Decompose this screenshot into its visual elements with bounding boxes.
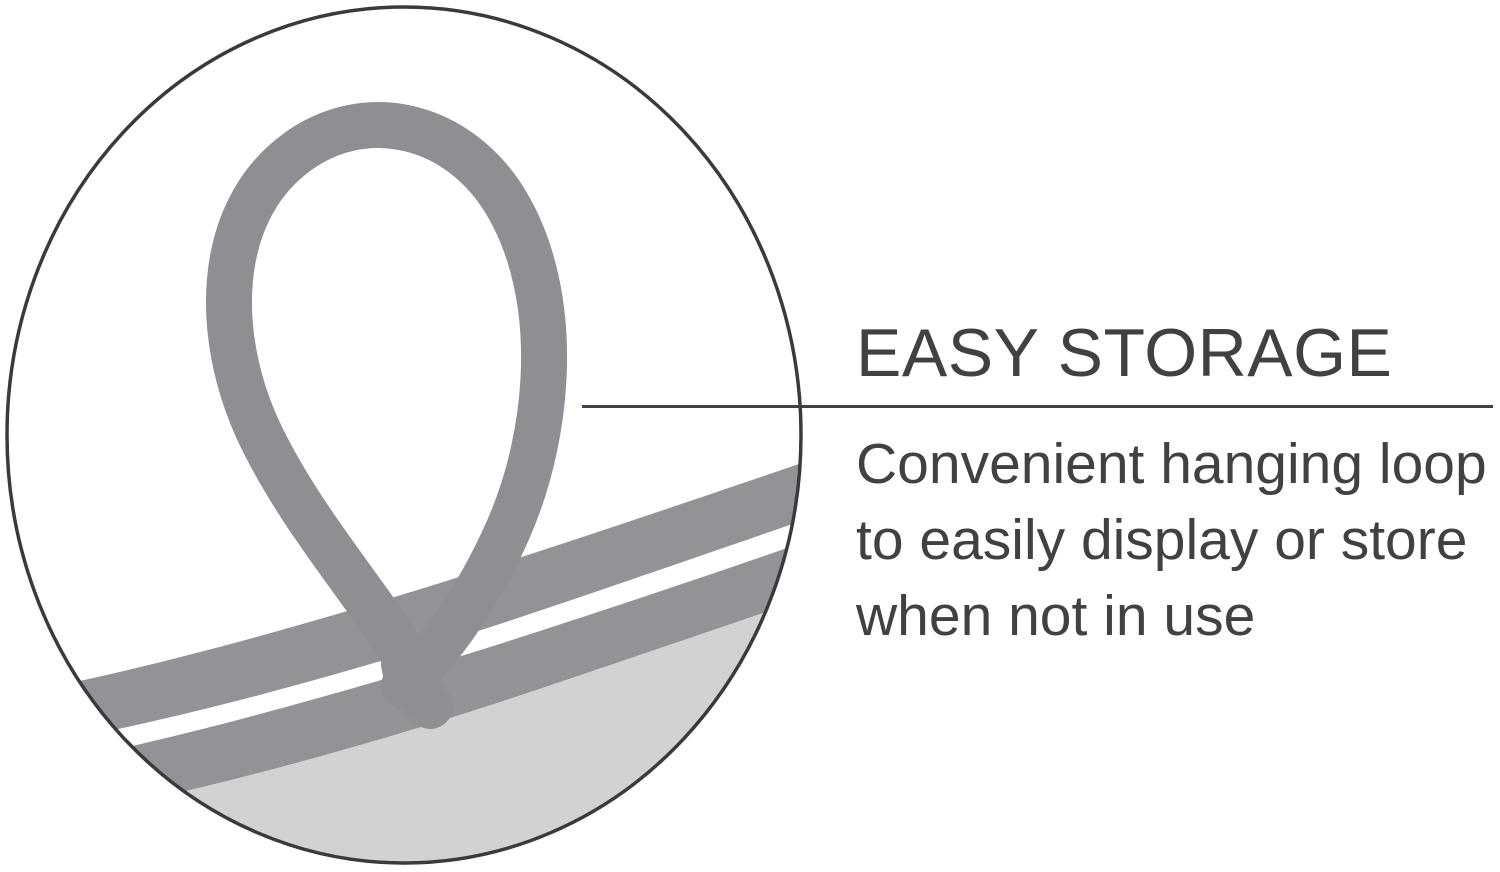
callout-title: EASY STORAGE: [856, 318, 1496, 388]
hanging-loop-tail: [404, 664, 430, 706]
feature-callout-panel: EASY STORAGE Convenient hanging loop to …: [0, 0, 1500, 872]
callout-body-line: when not in use: [856, 578, 1496, 654]
callout-text-block: EASY STORAGE Convenient hanging loop to …: [856, 318, 1496, 654]
callout-body-line: Convenient hanging loop: [856, 426, 1496, 502]
hanging-loop-illustration: [0, 0, 860, 872]
callout-body: Convenient hanging loop to easily displa…: [856, 426, 1496, 654]
callout-body-line: to easily display or store: [856, 502, 1496, 578]
